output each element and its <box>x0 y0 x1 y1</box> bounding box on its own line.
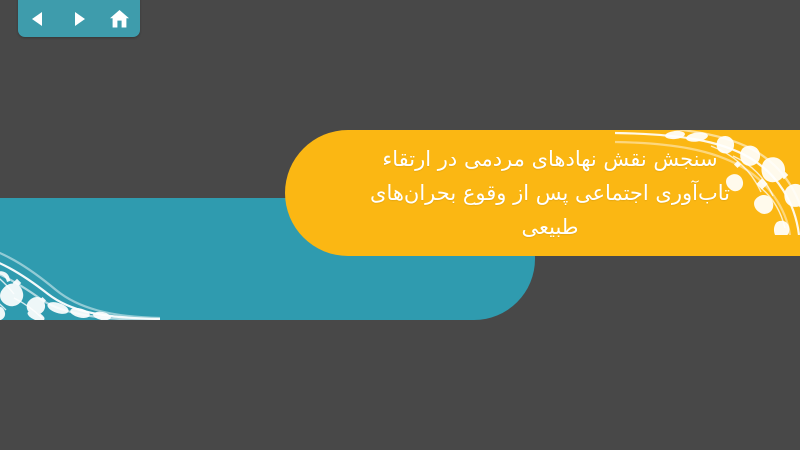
forward-button[interactable] <box>65 6 93 32</box>
forward-arrow-icon <box>70 10 88 28</box>
teal-arabesque-ornament <box>0 198 160 320</box>
orange-arabesque-ornament <box>615 130 800 235</box>
back-arrow-icon <box>29 10 47 28</box>
orange-banner-band <box>285 130 800 256</box>
home-icon <box>109 9 130 29</box>
navigation-bar <box>18 0 140 37</box>
back-button[interactable] <box>24 6 52 32</box>
slide-canvas: سنجش نقش نهادهای مردمی در ارتقاء تاب‌آور… <box>0 0 800 450</box>
home-button[interactable] <box>106 6 134 32</box>
